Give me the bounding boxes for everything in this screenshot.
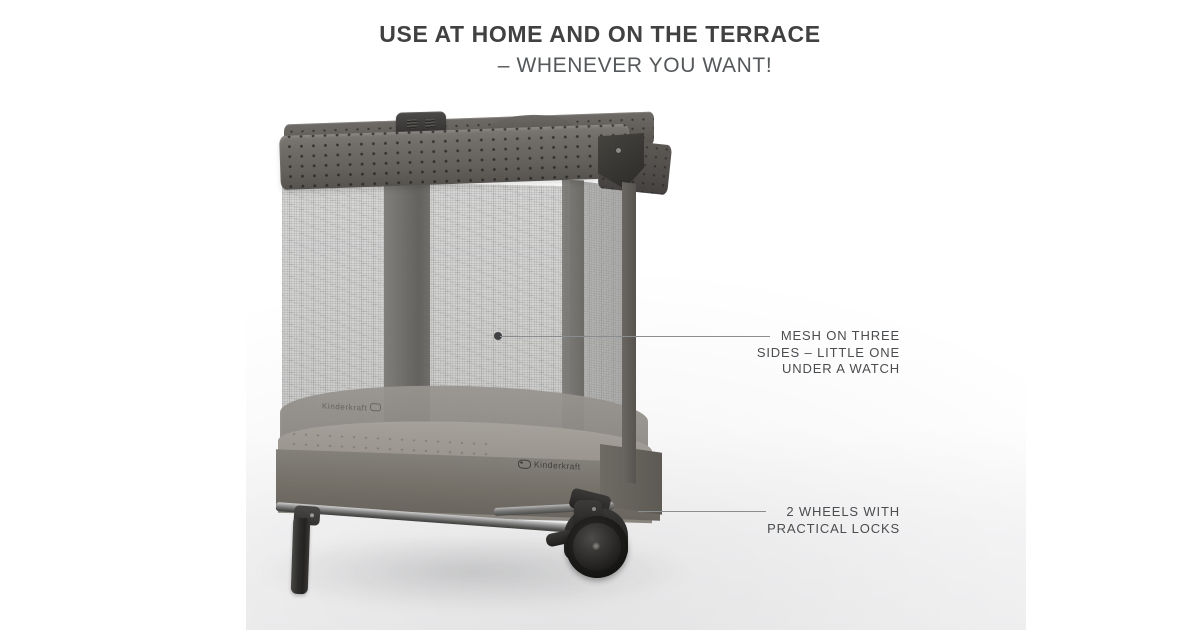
callout-wheels-line-2: PRACTICAL LOCKS [620, 521, 900, 538]
brand-mark-icon-side [518, 459, 531, 469]
brand-mark-icon [370, 403, 381, 412]
callout-mesh-line-3: UNDER A WATCH [620, 361, 900, 378]
callout-label-mesh: MESH ON THREE SIDES – LITTLE ONE UNDER A… [620, 328, 900, 378]
corner-rivet-icon [616, 148, 621, 153]
page-title: USE AT HOME AND ON THE TERRACE [0, 20, 1200, 48]
wheel-pin-icon [592, 507, 596, 511]
callout-mesh-line-1: MESH ON THREE [620, 328, 900, 345]
page-subtitle: – WHENEVER YOU WANT! [0, 53, 1200, 79]
callout-label-wheels: 2 WHEELS WITH PRACTICAL LOCKS [620, 504, 900, 537]
wheel-axle-icon [592, 542, 600, 550]
callout-wheels-line-1: 2 WHEELS WITH [620, 504, 900, 521]
callout-mesh-line-2: SIDES – LITTLE ONE [620, 345, 900, 362]
header: USE AT HOME AND ON THE TERRACE – WHENEVE… [0, 0, 1200, 79]
support-leg [291, 518, 311, 595]
promo-banner: USE AT HOME AND ON THE TERRACE – WHENEVE… [0, 0, 1200, 630]
frame-rivet-icon [310, 513, 314, 517]
